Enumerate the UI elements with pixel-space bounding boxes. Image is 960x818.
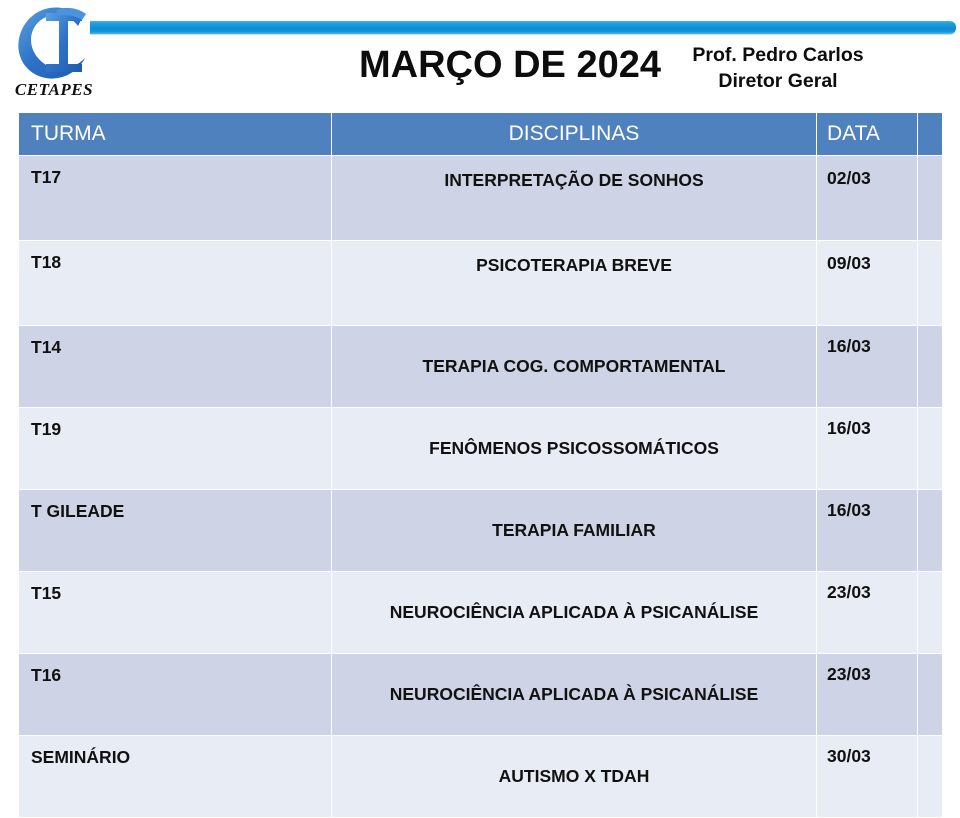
slide-header: CETAPES MARÇO DE 2024 Prof. Pedro Carlos… [0, 0, 960, 110]
table-row[interactable]: T14 TERAPIA COG. COMPORTAMENTAL 16/03 [19, 326, 942, 407]
cell-data: 16/03 [817, 490, 917, 571]
cell-turma: T19 [19, 408, 331, 489]
logo-wordmark: CETAPES [4, 80, 104, 100]
cell-extra [918, 326, 942, 407]
cell-data: 02/03 [817, 156, 917, 240]
cell-disciplina: INTERPRETAÇÃO DE SONHOS [332, 156, 816, 240]
cell-turma: T GILEADE [19, 490, 331, 571]
cell-data: 16/03 [817, 408, 917, 489]
cell-data: 30/03 [817, 736, 917, 817]
column-header-disciplinas: DISCIPLINAS [332, 113, 816, 155]
cell-turma: T14 [19, 326, 331, 407]
director-name: Prof. Pedro Carlos [648, 42, 908, 68]
cell-extra [918, 156, 942, 240]
cell-disciplina: AUTISMO X TDAH [332, 736, 816, 817]
table-row[interactable]: T15 NEUROCIÊNCIA APLICADA À PSICANÁLISE … [19, 572, 942, 653]
column-header-turma: TURMA [19, 113, 331, 155]
table-header-row: TURMA DISCIPLINAS DATA [19, 113, 942, 155]
table-row[interactable]: T17 INTERPRETAÇÃO DE SONHOS 02/03 [19, 156, 942, 240]
cell-disciplina: TERAPIA FAMILIAR [332, 490, 816, 571]
director-role: Diretor Geral [648, 68, 908, 94]
cetapes-logo: CETAPES [4, 4, 104, 106]
cell-turma: T16 [19, 654, 331, 735]
cell-data: 16/03 [817, 326, 917, 407]
table-row[interactable]: SEMINÁRIO AUTISMO X TDAH 30/03 [19, 736, 942, 817]
column-header-data: DATA [817, 113, 917, 155]
cell-data: 09/03 [817, 241, 917, 325]
table-row[interactable]: T16 NEUROCIÊNCIA APLICADA À PSICANÁLISE … [19, 654, 942, 735]
table-body: T17 INTERPRETAÇÃO DE SONHOS 02/03 T18 PS… [19, 156, 942, 817]
schedule-table-wrapper: TURMA DISCIPLINAS DATA T17 INTERPRETAÇÃO… [18, 112, 940, 818]
cell-extra [918, 241, 942, 325]
director-byline: Prof. Pedro Carlos Diretor Geral [648, 42, 908, 95]
cell-disciplina: TERAPIA COG. COMPORTAMENTAL [332, 326, 816, 407]
cell-extra [918, 490, 942, 571]
cell-disciplina: PSICOTERAPIA BREVE [332, 241, 816, 325]
table-row[interactable]: T19 FENÔMENOS PSICOSSOMÁTICOS 16/03 [19, 408, 942, 489]
cell-extra [918, 572, 942, 653]
cell-data: 23/03 [817, 654, 917, 735]
cell-turma: T18 [19, 241, 331, 325]
cell-data: 23/03 [817, 572, 917, 653]
table-row[interactable]: T18 PSICOTERAPIA BREVE 09/03 [19, 241, 942, 325]
cell-disciplina: FENÔMENOS PSICOSSOMÁTICOS [332, 408, 816, 489]
cell-extra [918, 654, 942, 735]
cell-disciplina: NEUROCIÊNCIA APLICADA À PSICANÁLISE [332, 572, 816, 653]
cetapes-c-monogram-icon [12, 4, 94, 82]
cell-turma: T15 [19, 572, 331, 653]
schedule-table: TURMA DISCIPLINAS DATA T17 INTERPRETAÇÃO… [18, 112, 943, 818]
column-header-extra [918, 113, 942, 155]
header-accent-bar [90, 21, 956, 34]
table-row[interactable]: T GILEADE TERAPIA FAMILIAR 16/03 [19, 490, 942, 571]
slide-root: CETAPES MARÇO DE 2024 Prof. Pedro Carlos… [0, 0, 960, 720]
cell-turma: SEMINÁRIO [19, 736, 331, 817]
cell-extra [918, 408, 942, 489]
cell-extra [918, 736, 942, 817]
cell-turma: T17 [19, 156, 331, 240]
table-head: TURMA DISCIPLINAS DATA [19, 113, 942, 155]
cell-disciplina: NEUROCIÊNCIA APLICADA À PSICANÁLISE [332, 654, 816, 735]
